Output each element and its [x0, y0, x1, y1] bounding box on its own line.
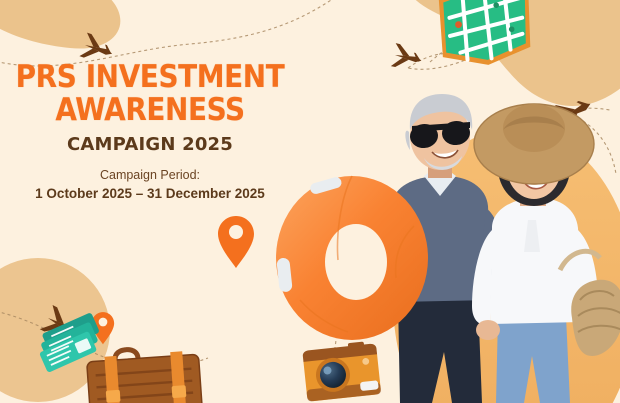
headline-block: PRS INVESTMENT AWARENESS CAMPAIGN 2025 C… [0, 62, 300, 202]
camera-icon [302, 340, 381, 401]
suitcase-icon [86, 342, 203, 403]
campaign-subtitle: CAMPAIGN 2025 [0, 135, 300, 155]
campaign-period-label: Campaign Period: [0, 168, 300, 183]
promotional-banner: PRS INVESTMENT AWARENESS CAMPAIGN 2025 C… [0, 0, 620, 403]
title-line-1: PRS INVESTMENT [0, 62, 300, 93]
title-line-2: AWARENESS [0, 95, 300, 126]
campaign-period-dates: 1 October 2025 – 31 December 2025 [0, 185, 300, 202]
location-pin-large [218, 216, 254, 268]
